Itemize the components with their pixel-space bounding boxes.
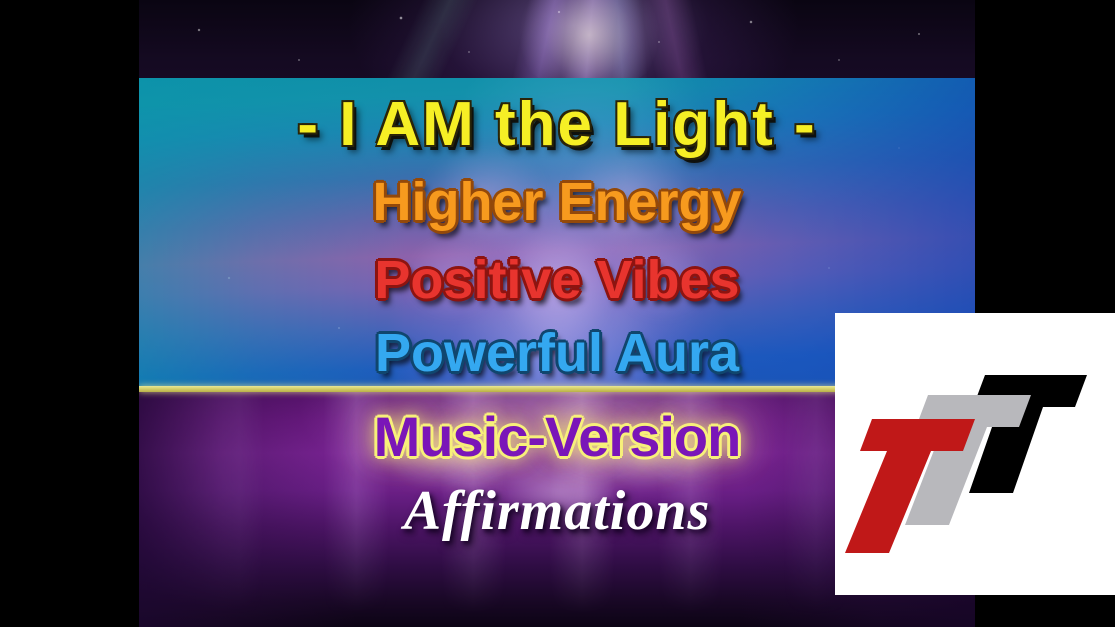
ttt-logo-icon [835, 313, 1115, 595]
page-title: - I AM the Light - [139, 94, 975, 156]
logo-letter-t-black [969, 375, 1087, 493]
letterbox-bar-left [0, 0, 139, 627]
subtitle-positive-vibes: Positive Vibes [139, 253, 975, 307]
subtitle-higher-energy: Higher Energy [139, 175, 975, 229]
channel-logo[interactable] [835, 313, 1115, 595]
video-thumbnail: - I AM the Light - Higher Energy Positiv… [0, 0, 1115, 627]
